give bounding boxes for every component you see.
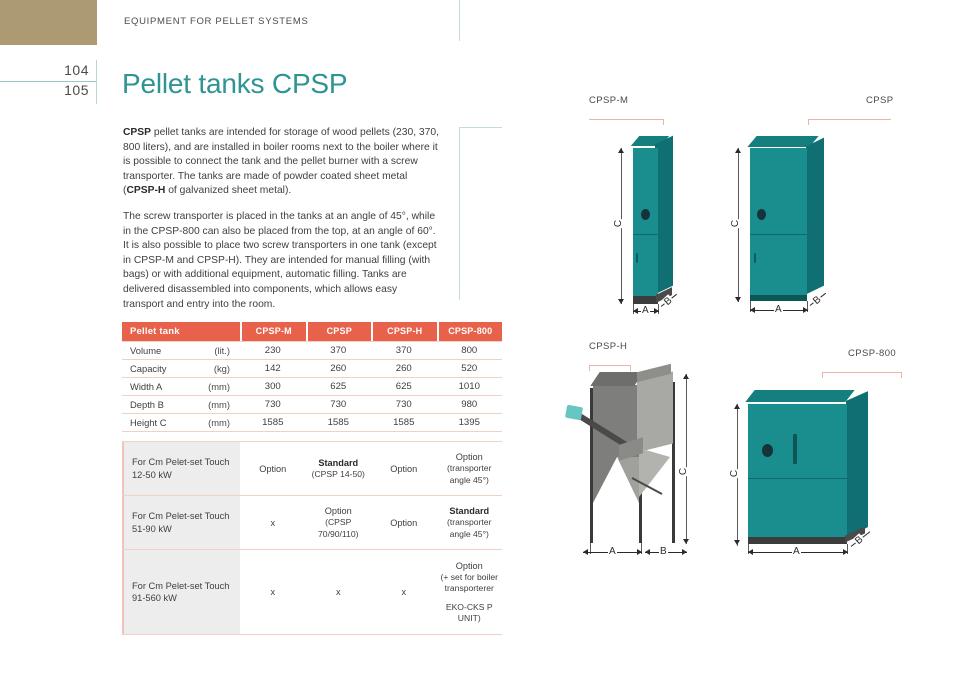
page-number-right: 105 <box>64 82 89 98</box>
option-sub: (CPSP 14-50) <box>312 469 365 481</box>
spec-value-cpsp: 1585 <box>306 414 372 431</box>
decorative-bracket-horizontal <box>459 127 502 128</box>
spec-value-cpsp: 730 <box>306 396 372 413</box>
bold-cpsp-h: CPSP-H <box>126 185 165 196</box>
spec-unit: (lit.) <box>214 345 230 356</box>
tank-port-icon <box>762 444 773 457</box>
dimension-arrow-a-right <box>843 549 848 555</box>
spec-value-cpsp-m: 300 <box>240 378 306 395</box>
tank-handle-icon <box>754 253 756 263</box>
tank-port-icon <box>641 209 650 220</box>
spec-label-cell: Height C (mm) <box>122 414 240 431</box>
option-sub-2: EKO-CKS P UNIT) <box>440 602 500 625</box>
dimension-arrow-c-top <box>735 148 741 153</box>
spec-value-cpsp-h: 370 <box>371 342 437 359</box>
spec-label: Capacity <box>130 363 166 374</box>
option-cell-cpsp-m: Option <box>240 442 306 495</box>
table-row: For Cm Pelet-set Touch 12-50 kW Option S… <box>122 441 502 496</box>
option-main: Option <box>259 463 286 475</box>
option-main: x <box>401 586 406 598</box>
option-cell-cpsp-h: Option <box>371 496 437 549</box>
bracket-tick-right <box>630 365 631 371</box>
dimension-label-c: C <box>730 219 741 228</box>
option-cell-cpsp-h: Option <box>371 442 437 495</box>
dimension-arrow-c-top <box>683 374 689 379</box>
tank-slot-icon <box>793 434 797 464</box>
bracket-tick-left <box>589 365 590 371</box>
dimension-label-c: C <box>729 469 740 478</box>
tank-side-face <box>806 138 824 295</box>
hopper-cone <box>593 457 639 503</box>
option-label-cell: For Cm Pelet-set Touch 12-50 kW <box>122 442 240 495</box>
decorative-rule-top <box>459 0 460 41</box>
dimension-arrow-a-left <box>750 307 755 313</box>
running-header: EQUIPMENT FOR PELLET SYSTEMS <box>124 16 308 27</box>
dimension-arrow-a-left <box>633 308 638 314</box>
option-main: Option <box>390 517 417 529</box>
dimension-arrow-a-right <box>803 307 808 313</box>
option-main: Standard <box>318 457 358 469</box>
option-label-cell: For Cm Pelet-set Touch 91-560 kW <box>122 550 240 634</box>
option-cell-cpsp-m: x <box>240 496 306 549</box>
hopper-top-rim <box>590 372 643 386</box>
spec-unit: (mm) <box>208 399 230 410</box>
dimension-arrow-a-left <box>583 549 588 555</box>
tank-front-face <box>750 148 807 296</box>
option-cell-cpsp-800: Standard (transporter angle 45°) <box>437 496 503 549</box>
tank-handle-icon <box>636 253 638 263</box>
spec-unit: (mm) <box>208 381 230 392</box>
dimension-arrow-c-bottom <box>618 299 624 304</box>
dimension-extension-c <box>686 374 687 544</box>
decorative-bracket-vertical <box>459 127 460 300</box>
spec-value-cpsp-h: 625 <box>371 378 437 395</box>
option-sub: (transporter angle 45°) <box>440 463 500 486</box>
spec-value-cpsp-800: 1395 <box>437 414 503 431</box>
spec-label-cell: Volume (lit.) <box>122 342 240 359</box>
spec-label-cell: Width A (mm) <box>122 378 240 395</box>
specification-table: Pellet tank CPSP-M CPSP CPSP-H CPSP-800 … <box>122 322 502 635</box>
page-number-left: 104 <box>64 62 89 78</box>
tank-top-lid <box>745 390 854 402</box>
dimension-label-c: C <box>678 467 689 476</box>
table-row: For Cm Pelet-set Touch 91-560 kW x x x O… <box>122 550 502 635</box>
dimension-arrow-a-right <box>654 308 659 314</box>
figure-label-cpsp-h: CPSP-H <box>589 341 627 352</box>
dimension-arrow-c-top <box>734 404 740 409</box>
spec-value-cpsp-800: 800 <box>437 342 503 359</box>
paragraph-1: CPSP pellet tanks are intended for stora… <box>123 126 439 199</box>
table-row: Width A (mm) 300 625 625 1010 <box>122 378 502 396</box>
option-cell-cpsp-800: Option (+ set for boiler transporterer E… <box>437 550 503 634</box>
table-row: Capacity (kg) 142 260 260 520 <box>122 360 502 378</box>
catalog-page: EQUIPMENT FOR PELLET SYSTEMS 104 105 Pel… <box>0 0 959 678</box>
figure-bracket-cpsp-800 <box>822 372 902 373</box>
option-main: x <box>270 586 275 598</box>
table-header-row: Pellet tank CPSP-M CPSP CPSP-H CPSP-800 <box>122 322 502 341</box>
spec-label: Width A <box>130 381 162 392</box>
dimension-arrow-b-right <box>682 549 687 555</box>
spec-value-cpsp-800: 980 <box>437 396 503 413</box>
figure-bracket-cpsp-m <box>589 119 664 120</box>
dimension-arrow-a-right <box>637 549 642 555</box>
spec-label-cell: Capacity (kg) <box>122 360 240 377</box>
tank-front-face <box>633 148 658 296</box>
option-cell-cpsp: Option (CPSP 70/90/110) <box>306 496 372 549</box>
table-row: Volume (lit.) 230 370 370 800 <box>122 341 502 360</box>
tank-base <box>633 296 658 304</box>
spec-value-cpsp: 260 <box>306 360 372 377</box>
table-header-cell-2: CPSP <box>306 322 372 341</box>
option-label-cell: For Cm Pelet-set Touch 51-90 kW <box>122 496 240 549</box>
tank-seam <box>750 234 807 235</box>
dimension-label-a: A <box>608 546 617 557</box>
page-number-vertical-rule <box>96 60 97 104</box>
dimension-arrow-b-left <box>645 549 650 555</box>
tank-front-face <box>748 404 847 537</box>
spec-value-cpsp-h: 1585 <box>371 414 437 431</box>
screw-transporter-motor <box>565 405 583 421</box>
spec-value-cpsp-h: 260 <box>371 360 437 377</box>
bracket-tick-right <box>901 372 902 378</box>
option-main: Standard <box>449 505 489 517</box>
spec-label-cell: Depth B (mm) <box>122 396 240 413</box>
option-sub: (transporter angle 45°) <box>440 517 500 540</box>
page-number-group: 104 105 <box>0 62 97 102</box>
spec-value-cpsp-m: 1585 <box>240 414 306 431</box>
tank-base <box>748 537 847 544</box>
bracket-tick-left <box>822 372 823 378</box>
spec-value-cpsp: 370 <box>306 342 372 359</box>
table-header-cell-0: Pellet tank <box>122 322 240 341</box>
spec-value-cpsp-800: 520 <box>437 360 503 377</box>
spec-label: Depth B <box>130 399 164 410</box>
spec-unit: (mm) <box>208 417 230 428</box>
spec-value-cpsp-m: 230 <box>240 342 306 359</box>
option-sub: (CPSP 70/90/110) <box>309 517 369 540</box>
spec-value-cpsp-800: 1010 <box>437 378 503 395</box>
dimension-label-a: A <box>792 546 801 557</box>
spec-value-cpsp-m: 730 <box>240 396 306 413</box>
bold-cpsp: CPSP <box>123 127 151 138</box>
figure-label-cpsp: CPSP <box>866 95 893 106</box>
option-cell-cpsp: Standard (CPSP 14-50) <box>306 442 372 495</box>
spec-value-cpsp: 625 <box>306 378 372 395</box>
option-main: x <box>336 586 341 598</box>
paragraph-1-text-b: of galvanized sheet metal). <box>165 185 291 196</box>
dimension-arrow-c-bottom <box>735 297 741 302</box>
dimension-arrow-c-bottom <box>734 540 740 545</box>
dimension-label-c: C <box>613 219 624 228</box>
paragraph-2: The screw transporter is placed in the t… <box>123 210 439 312</box>
tank-seam <box>748 478 847 479</box>
table-row: For Cm Pelet-set Touch 51-90 kW x Option… <box>122 496 502 550</box>
option-cell-cpsp: x <box>306 550 372 634</box>
dimension-arrow-c-bottom <box>683 539 689 544</box>
table-header-cell-4: CPSP-800 <box>437 322 503 341</box>
option-main: x <box>270 517 275 529</box>
option-main: Option <box>325 505 352 517</box>
tank-base <box>750 295 807 301</box>
page-title: Pellet tanks CPSP <box>122 68 347 100</box>
table-row: Height C (mm) 1585 1585 1585 1395 <box>122 414 502 432</box>
option-cell-cpsp-h: x <box>371 550 437 634</box>
bracket-tick-right <box>663 119 664 125</box>
option-main: Option <box>390 463 417 475</box>
table-row: Depth B (mm) 730 730 730 980 <box>122 396 502 414</box>
tank-side-face <box>846 391 868 537</box>
body-copy: CPSP pellet tanks are intended for stora… <box>123 126 439 323</box>
spec-value-cpsp-h: 730 <box>371 396 437 413</box>
spec-value-cpsp-m: 142 <box>240 360 306 377</box>
dimension-label-b: B <box>659 546 668 557</box>
option-sub: (+ set for boiler transporterer <box>440 572 500 595</box>
option-main: Option <box>456 451 483 463</box>
tan-color-block <box>0 0 97 45</box>
dimension-label-a: A <box>641 305 650 316</box>
figure-label-cpsp-m: CPSP-M <box>589 95 628 106</box>
option-cell-cpsp-m: x <box>240 550 306 634</box>
spec-label: Volume <box>130 345 161 356</box>
table-header-cell-1: CPSP-M <box>240 322 306 341</box>
dimension-arrow-c-top <box>618 148 624 153</box>
dimension-arrow-a-left <box>748 549 753 555</box>
figure-bracket-cpsp <box>808 119 891 120</box>
option-cell-cpsp-800: Option (transporter angle 45°) <box>437 442 503 495</box>
tank-port-icon <box>757 209 766 220</box>
spec-label: Height C <box>130 417 166 428</box>
tank-seam <box>633 234 658 235</box>
option-main: Option <box>456 560 483 572</box>
table-header-cell-3: CPSP-H <box>371 322 437 341</box>
table-gap <box>122 432 502 441</box>
figure-label-cpsp-800: CPSP-800 <box>848 348 896 359</box>
figure-bracket-cpsp-h <box>589 365 631 366</box>
dimension-label-a: A <box>774 304 783 315</box>
spec-unit: (kg) <box>214 363 230 374</box>
bracket-tick-left <box>808 119 809 125</box>
